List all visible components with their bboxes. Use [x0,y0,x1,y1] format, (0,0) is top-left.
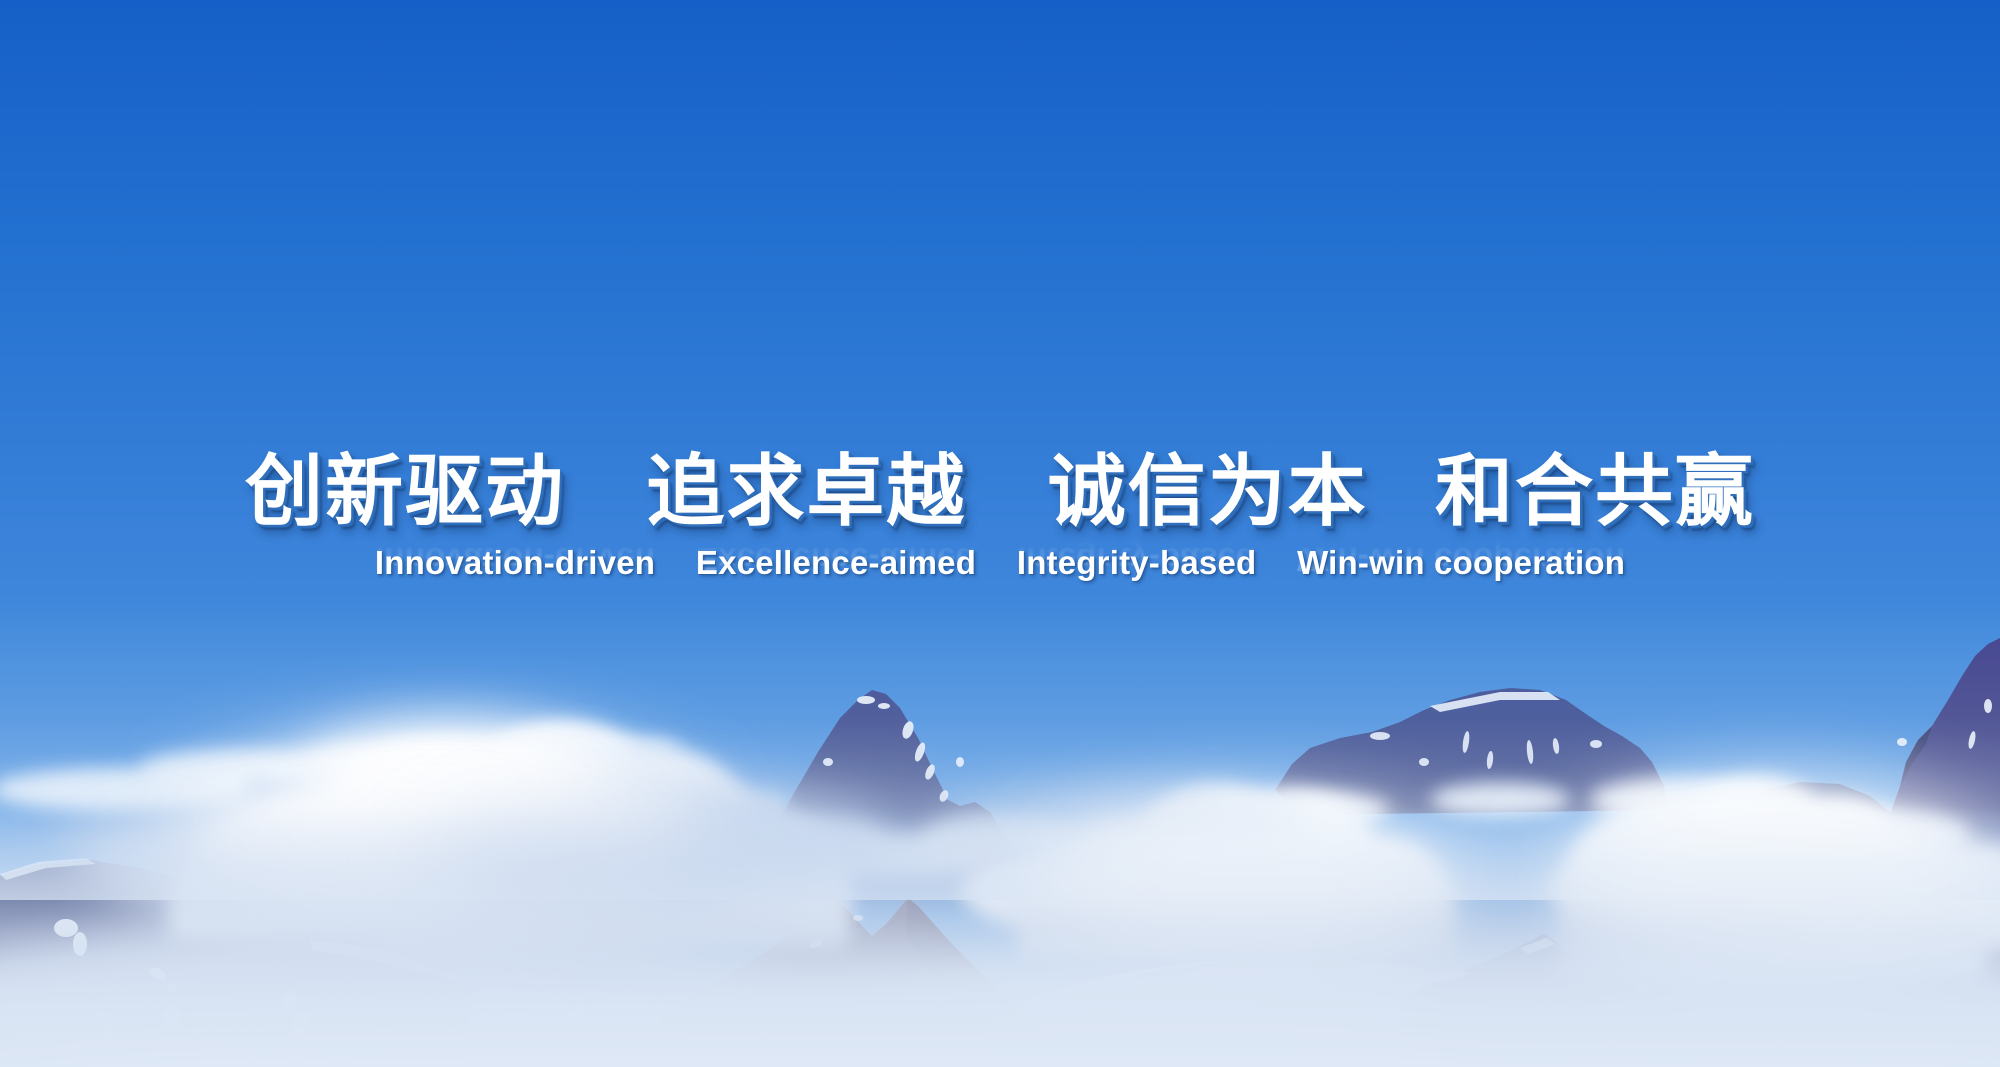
headline-phrase-3: 诚信为本 [1048,447,1368,535]
slogan-block: 创新驱动 追求卓越 诚信为本 和合共赢 Innovation-driven Ex… [0,452,2000,600]
subheadline-phrase-2: Excellence-aimed [696,544,976,581]
banner-stage: 创新驱动 追求卓越 诚信为本 和合共赢 Innovation-driven Ex… [0,0,2000,1067]
headline-phrase-2: 追求卓越 [646,447,966,535]
headline-phrase-1: 创新驱动 [245,447,565,535]
subheadline-wrap: Innovation-driven Excellence-aimed Integ… [0,544,2000,600]
subheadline-phrase-4: Win-win cooperation [1297,544,1625,581]
subheadline-english: Innovation-driven Excellence-aimed Integ… [0,544,2000,582]
subheadline-phrase-3: Integrity-based [1017,544,1257,581]
headline-chinese: 创新驱动 追求卓越 诚信为本 和合共赢 [0,452,2000,530]
subheadline-phrase-1: Innovation-driven [375,544,655,581]
headline-phrase-4: 和合共赢 [1435,447,1755,535]
